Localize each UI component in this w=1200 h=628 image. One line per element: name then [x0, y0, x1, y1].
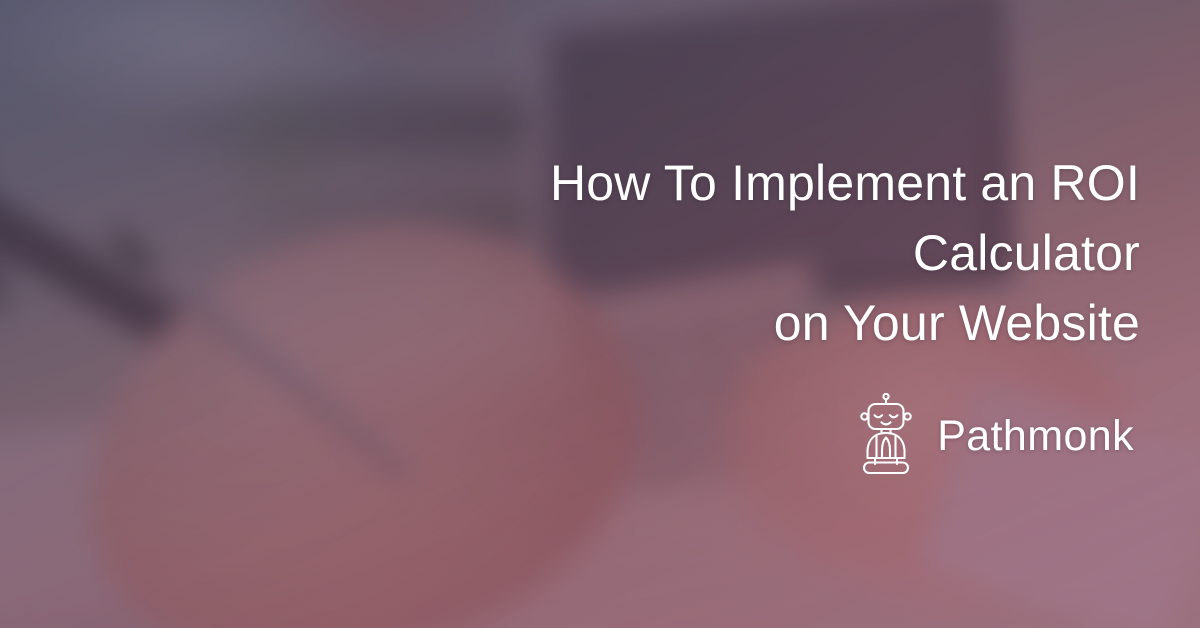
blog-cover-image: How To Implement an ROI Calculator on Yo…	[0, 0, 1200, 628]
brand-name: Pathmonk	[937, 415, 1134, 458]
cover-title-line-2: on Your Website	[380, 288, 1140, 358]
brand-lockup: Pathmonk	[855, 392, 1134, 481]
meditating-robot-monk-icon	[855, 392, 917, 481]
cover-title: How To Implement an ROI Calculator on Yo…	[380, 148, 1140, 358]
cover-title-line-1: How To Implement an ROI Calculator	[380, 148, 1140, 288]
cover-content: How To Implement an ROI Calculator on Yo…	[0, 0, 1200, 628]
